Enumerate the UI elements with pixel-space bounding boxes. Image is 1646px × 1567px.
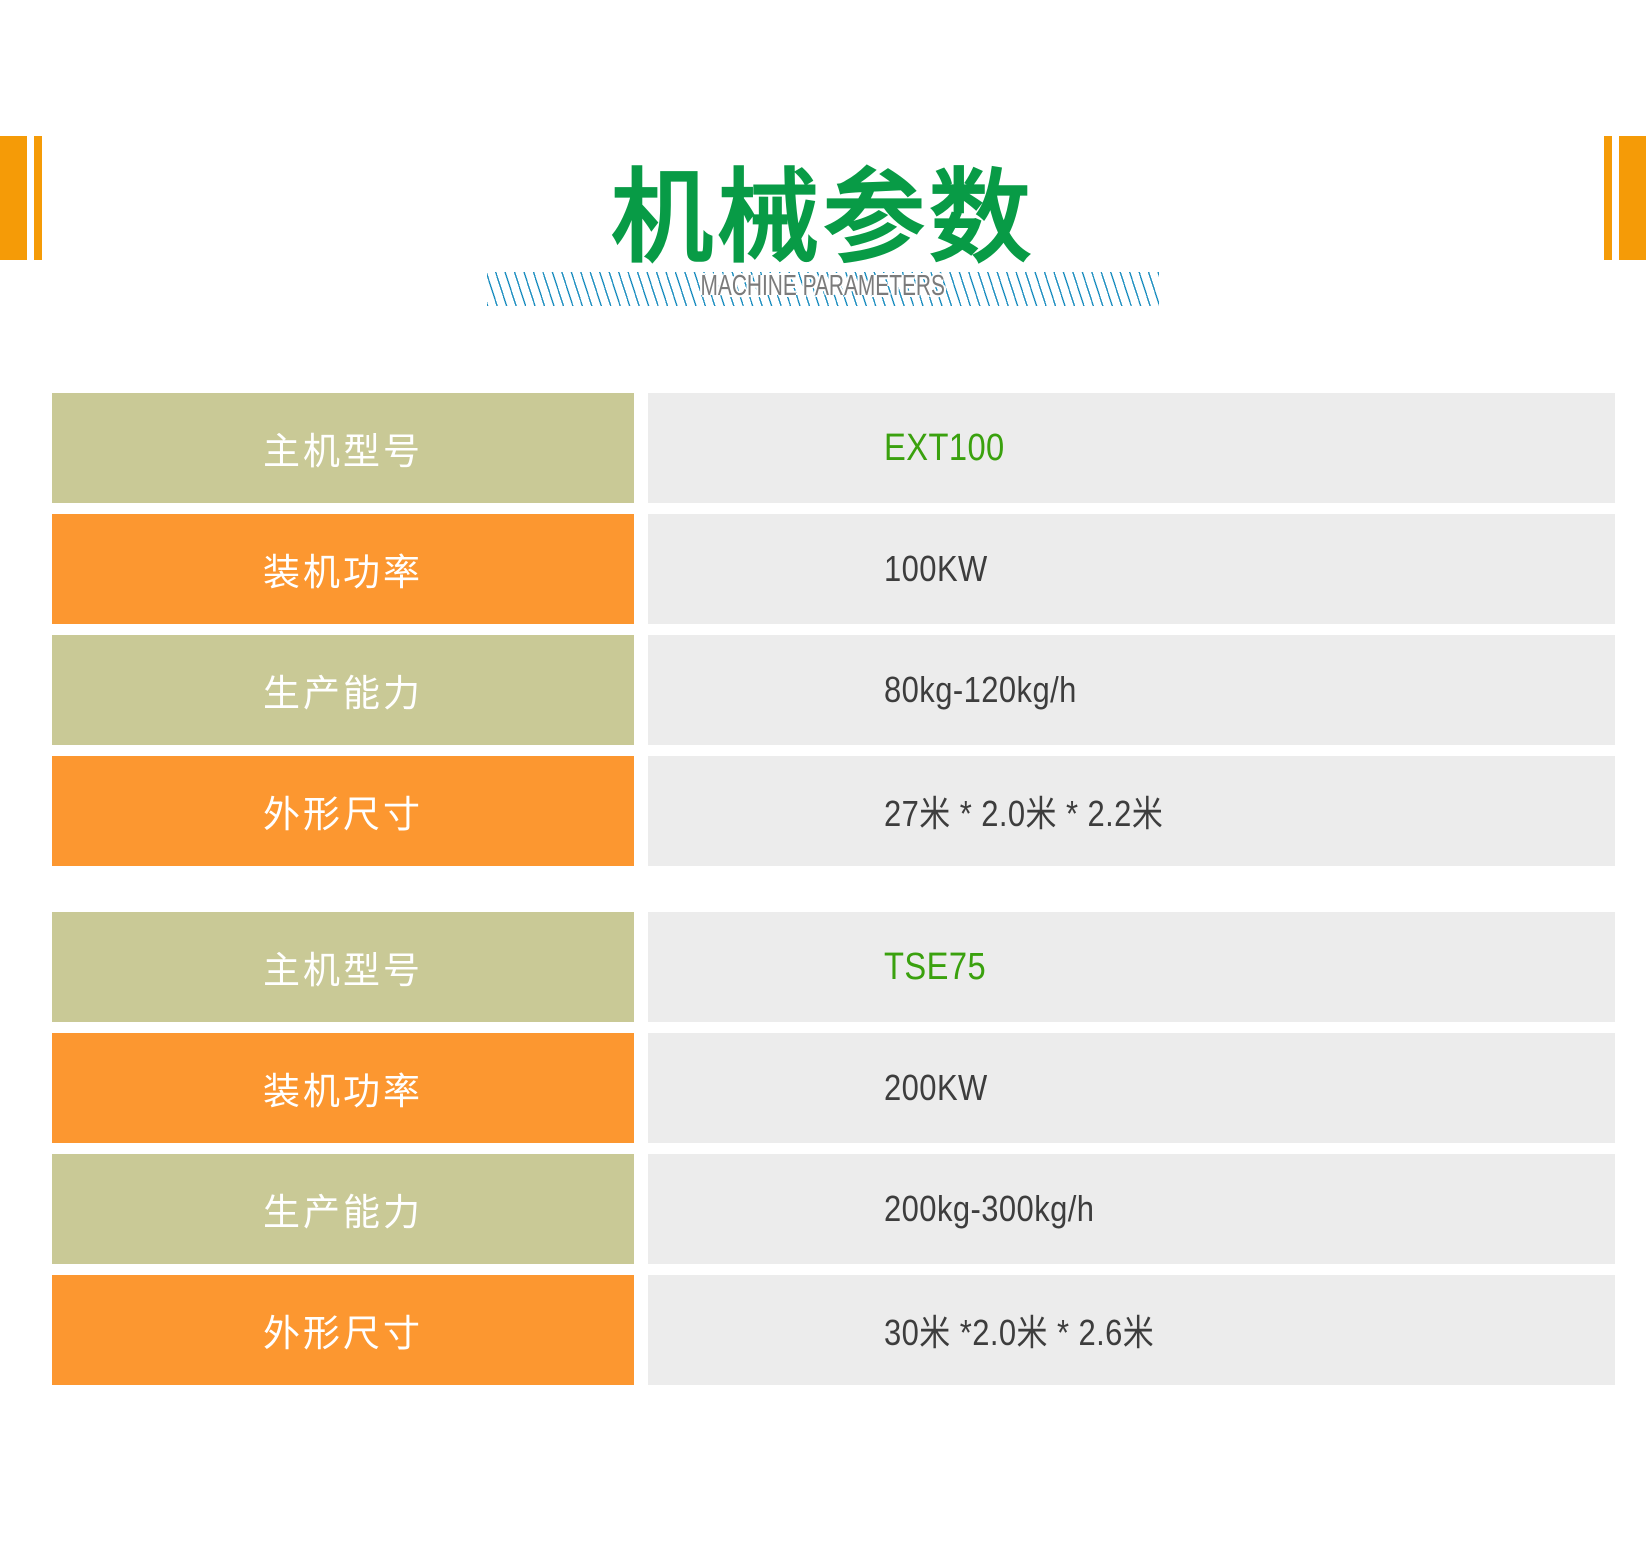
param-label-text: 主机型号: [263, 421, 423, 475]
param-label-host-model: 主机型号: [52, 393, 634, 503]
table-row: 主机型号 TSE75: [52, 912, 1615, 1022]
parameter-tables: 主机型号 EXT100 装机功率 100KW 生产能力 80: [52, 393, 1615, 1385]
param-value-host-model: EXT100: [648, 393, 1615, 503]
parameter-table-ext100: 主机型号 EXT100 装机功率 100KW 生产能力 80: [52, 393, 1615, 866]
param-value-text: 200KW: [884, 1067, 988, 1109]
param-value-capacity: 200kg-300kg/h: [648, 1154, 1615, 1264]
param-label-dimensions: 外形尺寸: [52, 756, 634, 866]
param-label-text: 主机型号: [263, 940, 423, 994]
param-value-installed-power: 100KW: [648, 514, 1615, 624]
param-value-text: EXT100: [884, 427, 1005, 470]
param-value-text: 80kg-120kg/h: [884, 669, 1077, 711]
parameter-table-tse75: 主机型号 TSE75 装机功率 200KW 生产能力 200: [52, 912, 1615, 1385]
table-row: 外形尺寸 27米 * 2.0米 * 2.2米: [52, 756, 1615, 866]
param-label-capacity: 生产能力: [52, 1154, 634, 1264]
param-value-installed-power: 200KW: [648, 1033, 1615, 1143]
param-value-host-model: TSE75: [648, 912, 1615, 1022]
table-row: 生产能力 200kg-300kg/h: [52, 1154, 1615, 1264]
table-row: 装机功率 100KW: [52, 514, 1615, 624]
param-value-capacity: 80kg-120kg/h: [648, 635, 1615, 745]
param-label-text: 外形尺寸: [263, 784, 423, 838]
table-row: 生产能力 80kg-120kg/h: [52, 635, 1615, 745]
param-value-dimensions: 27米 * 2.0米 * 2.2米: [648, 756, 1615, 866]
param-value-text: 100KW: [884, 548, 988, 590]
param-value-text: 27米 * 2.0米 * 2.2米: [884, 785, 1163, 837]
param-label-dimensions: 外形尺寸: [52, 1275, 634, 1385]
table-row: 外形尺寸 30米 *2.0米 * 2.6米: [52, 1275, 1615, 1385]
param-label-text: 装机功率: [263, 1061, 423, 1115]
param-label-capacity: 生产能力: [52, 635, 634, 745]
param-label-text: 装机功率: [263, 542, 423, 596]
param-value-dimensions: 30米 *2.0米 * 2.6米: [648, 1275, 1615, 1385]
parameters-page: 机械参数 MACHINE PARAMETERS 主机型号 EXT100 装机功率: [0, 0, 1646, 1567]
page-subtitle: MACHINE PARAMETERS: [698, 270, 948, 303]
table-row: 装机功率 200KW: [52, 1033, 1615, 1143]
param-value-text: 30米 *2.0米 * 2.6米: [884, 1304, 1154, 1356]
page-header: 机械参数 MACHINE PARAMETERS: [0, 0, 1646, 370]
param-label-installed-power: 装机功率: [52, 1033, 634, 1143]
param-label-text: 外形尺寸: [263, 1303, 423, 1357]
param-value-text: TSE75: [884, 946, 986, 989]
param-label-text: 生产能力: [263, 1182, 423, 1236]
param-label-installed-power: 装机功率: [52, 514, 634, 624]
param-label-text: 生产能力: [263, 663, 423, 717]
page-title: 机械参数: [0, 164, 1646, 274]
subtitle-band: MACHINE PARAMETERS: [487, 262, 1159, 310]
table-row: 主机型号 EXT100: [52, 393, 1615, 503]
param-label-host-model: 主机型号: [52, 912, 634, 1022]
param-value-text: 200kg-300kg/h: [884, 1188, 1094, 1230]
